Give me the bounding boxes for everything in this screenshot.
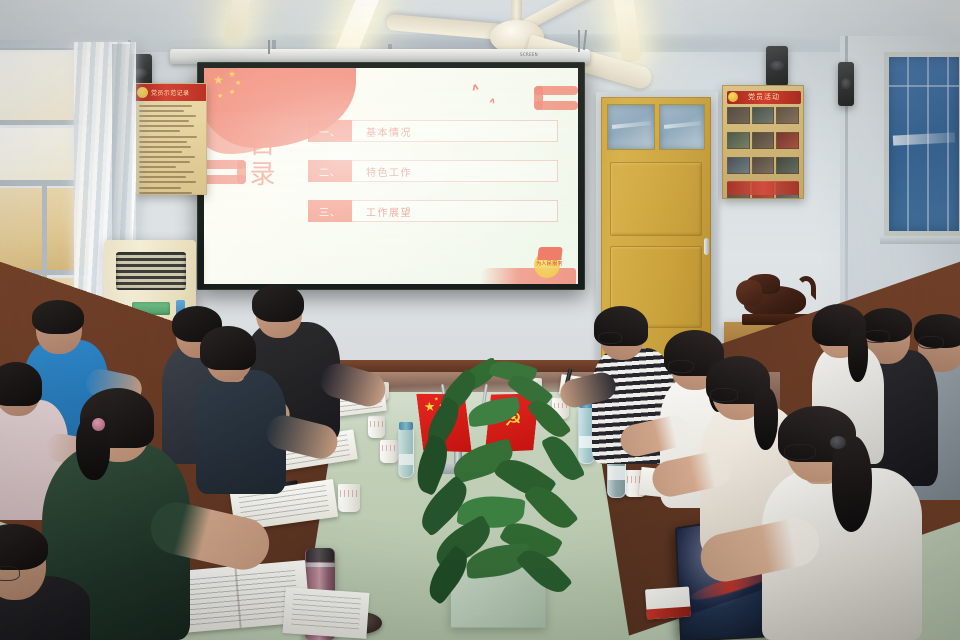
eyeglasses: [0, 566, 20, 581]
slide-star-icon: ★: [213, 74, 224, 86]
meeting-room-photo: SCREEN ★ ★ ★ ★ ★ ʌ ʌ 目录 一、 基本情况 二、: [0, 0, 960, 640]
paper-cup[interactable]: [338, 484, 360, 512]
glass-reflection: [663, 122, 700, 130]
door-glass-pane: [607, 104, 655, 150]
bottle-label: [608, 466, 625, 480]
window-right: [884, 52, 960, 236]
party-emblem-icon: [728, 92, 738, 102]
slide-star-icon: ★: [235, 80, 241, 87]
slide-agenda-number: 三、: [308, 200, 352, 222]
slide-title: 目录: [246, 130, 280, 190]
projection-screen[interactable]: ★ ★ ★ ★ ★ ʌ ʌ 目录 一、 基本情况 二、 特色工作 三、 工作展望: [204, 68, 578, 284]
wall-speaker: [766, 46, 788, 86]
slide-star-icon: ★: [229, 89, 235, 96]
slide-cloud-decor: [534, 86, 543, 110]
slide-agenda-label: 工作展望: [352, 200, 558, 222]
paper-cup[interactable]: [380, 440, 398, 463]
cable: [268, 40, 270, 54]
window-sill: [880, 236, 960, 244]
wall-poster-right: 党员活动: [722, 85, 804, 199]
poster-footer-band: [727, 181, 799, 195]
eyeglasses: [710, 388, 738, 402]
poster-title: 党员活动: [727, 91, 801, 104]
door-panel: [610, 162, 702, 236]
eyeglasses: [784, 444, 816, 460]
thermos-ring: [305, 563, 335, 567]
door-handle[interactable]: [704, 238, 709, 255]
glass-reflection: [612, 121, 651, 129]
slide-agenda-item[interactable]: 三、 工作展望: [308, 200, 558, 222]
slide-star-icon: ★: [217, 93, 223, 100]
slide-agenda-label: 基本情况: [352, 120, 558, 142]
speaker-cone: [770, 61, 784, 71]
paper-cup[interactable]: [368, 416, 385, 438]
slide-agenda-label: 特色工作: [352, 160, 558, 182]
paper-sheet[interactable]: [282, 587, 369, 639]
party-emblem-icon: [137, 87, 148, 98]
hair-clip: [92, 418, 105, 431]
wall-poster-left: 党员示范记录: [133, 83, 207, 195]
slide-agenda-item[interactable]: 一、 基本情况: [308, 120, 558, 142]
small-box[interactable]: [645, 587, 691, 620]
hair-tie: [830, 436, 846, 449]
cable: [578, 30, 580, 52]
poster-title: 党员示范记录: [151, 88, 189, 97]
statue-head: [736, 280, 762, 306]
slide-agenda-list: 一、 基本情况 二、 特色工作 三、 工作展望: [308, 120, 558, 240]
slide-bird-icon: ʌ: [489, 95, 496, 105]
ac-vent-grille: [116, 252, 186, 290]
emblem-cap: [537, 247, 562, 260]
eyeglasses: [598, 332, 622, 344]
slide-agenda-number: 二、: [308, 160, 352, 182]
eyeglasses: [864, 330, 890, 343]
speaker-cone: [841, 78, 851, 89]
slide-agenda-item[interactable]: 二、 特色工作: [308, 160, 558, 182]
potted-plant: [398, 360, 586, 628]
eyeglasses: [668, 360, 694, 373]
eyeglasses: [918, 336, 944, 349]
thermos-lid: [306, 548, 334, 562]
screen-housing-label: SCREEN: [520, 52, 538, 57]
slide-agenda-number: 一、: [308, 120, 352, 142]
slide-bird-icon: ʌ: [471, 81, 480, 93]
wall-speaker: [838, 62, 854, 106]
statue-tail: [796, 276, 816, 300]
poster-body: [139, 105, 201, 189]
poster-header: 党员示范记录: [134, 84, 206, 101]
emblem-text: 为人民服务: [536, 260, 563, 267]
slide-cloud-decor: [237, 160, 246, 184]
slide-party-emblem: 为人民服务: [526, 246, 570, 280]
door-glass-pane: [659, 104, 705, 150]
glass-reflection: [893, 132, 955, 146]
